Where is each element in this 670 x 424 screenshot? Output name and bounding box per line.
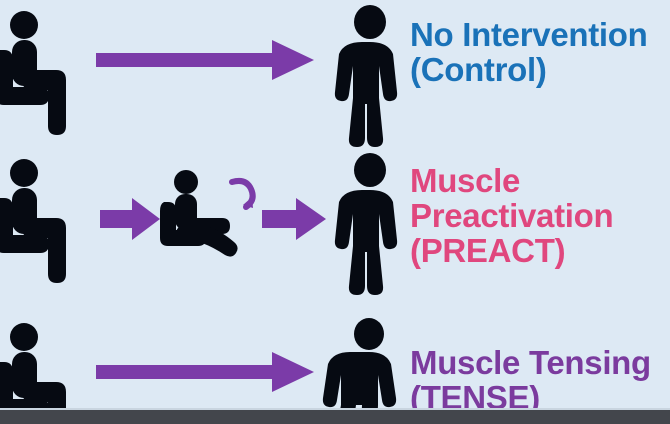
video-player-bar[interactable] (0, 410, 670, 424)
diagram-row-preact: Muscle Preactivation (PREACT) (0, 148, 670, 288)
label-line: Muscle Tensing (410, 346, 651, 381)
row-label-control: No Intervention (Control) (410, 18, 648, 88)
seated-person-icon (0, 156, 88, 276)
row-label-preact: Muscle Preactivation (PREACT) (410, 164, 613, 269)
label-line: No Intervention (410, 18, 648, 53)
row-label-tense: Muscle Tensing (TENSE) (410, 346, 651, 416)
short-right-arrow-icon (100, 198, 160, 240)
long-right-arrow-icon (96, 40, 314, 80)
seated-leg-extension-exercise-icon (158, 168, 278, 264)
standing-person-icon (332, 4, 408, 124)
label-line: (PREACT) (410, 234, 613, 269)
label-line: (Control) (410, 53, 648, 88)
long-right-arrow-icon (96, 352, 314, 392)
short-right-arrow-icon (262, 198, 326, 240)
label-line: Muscle (410, 164, 613, 199)
standing-person-icon (332, 152, 408, 272)
seated-person-icon (0, 8, 88, 128)
study-design-diagram: No Intervention (Control) (0, 0, 670, 424)
diagram-row-control: No Intervention (Control) (0, 0, 670, 140)
label-line: Preactivation (410, 199, 613, 234)
